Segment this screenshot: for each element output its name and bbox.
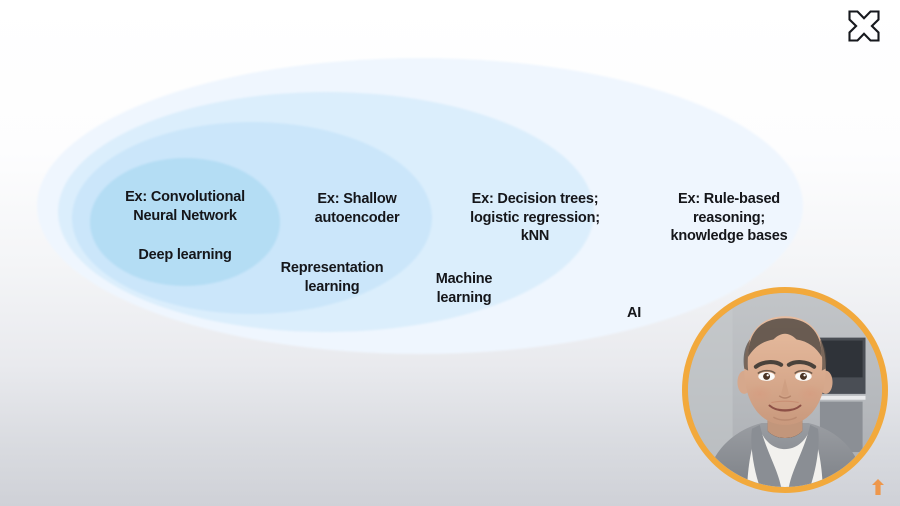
- category-label-deep-learning: Deep learning: [118, 246, 252, 265]
- category-label-machine-learning: Machine learning: [404, 270, 524, 307]
- example-label-machine-learning: Ex: Decision trees; logistic regression;…: [446, 190, 624, 246]
- category-label-representation-learning: Representation learning: [258, 259, 406, 296]
- webcam-inner-clip: [688, 293, 882, 487]
- presenter-webcam-bubble[interactable]: [682, 287, 888, 493]
- slide-canvas: Ex: Convolutional Neural Network Ex: Sha…: [0, 0, 900, 506]
- example-label-ai: Ex: Rule-based reasoning; knowledge base…: [638, 190, 820, 246]
- orange-arrow-mark-icon: [868, 476, 888, 498]
- category-label-ai: AI: [604, 304, 664, 323]
- example-label-representation-learning: Ex: Shallow autoencoder: [278, 190, 436, 227]
- example-label-deep-learning: Ex: Convolutional Neural Network: [108, 188, 262, 225]
- presenter-video-frame: [688, 293, 882, 487]
- deeplearning-x-logo-icon: [844, 6, 884, 46]
